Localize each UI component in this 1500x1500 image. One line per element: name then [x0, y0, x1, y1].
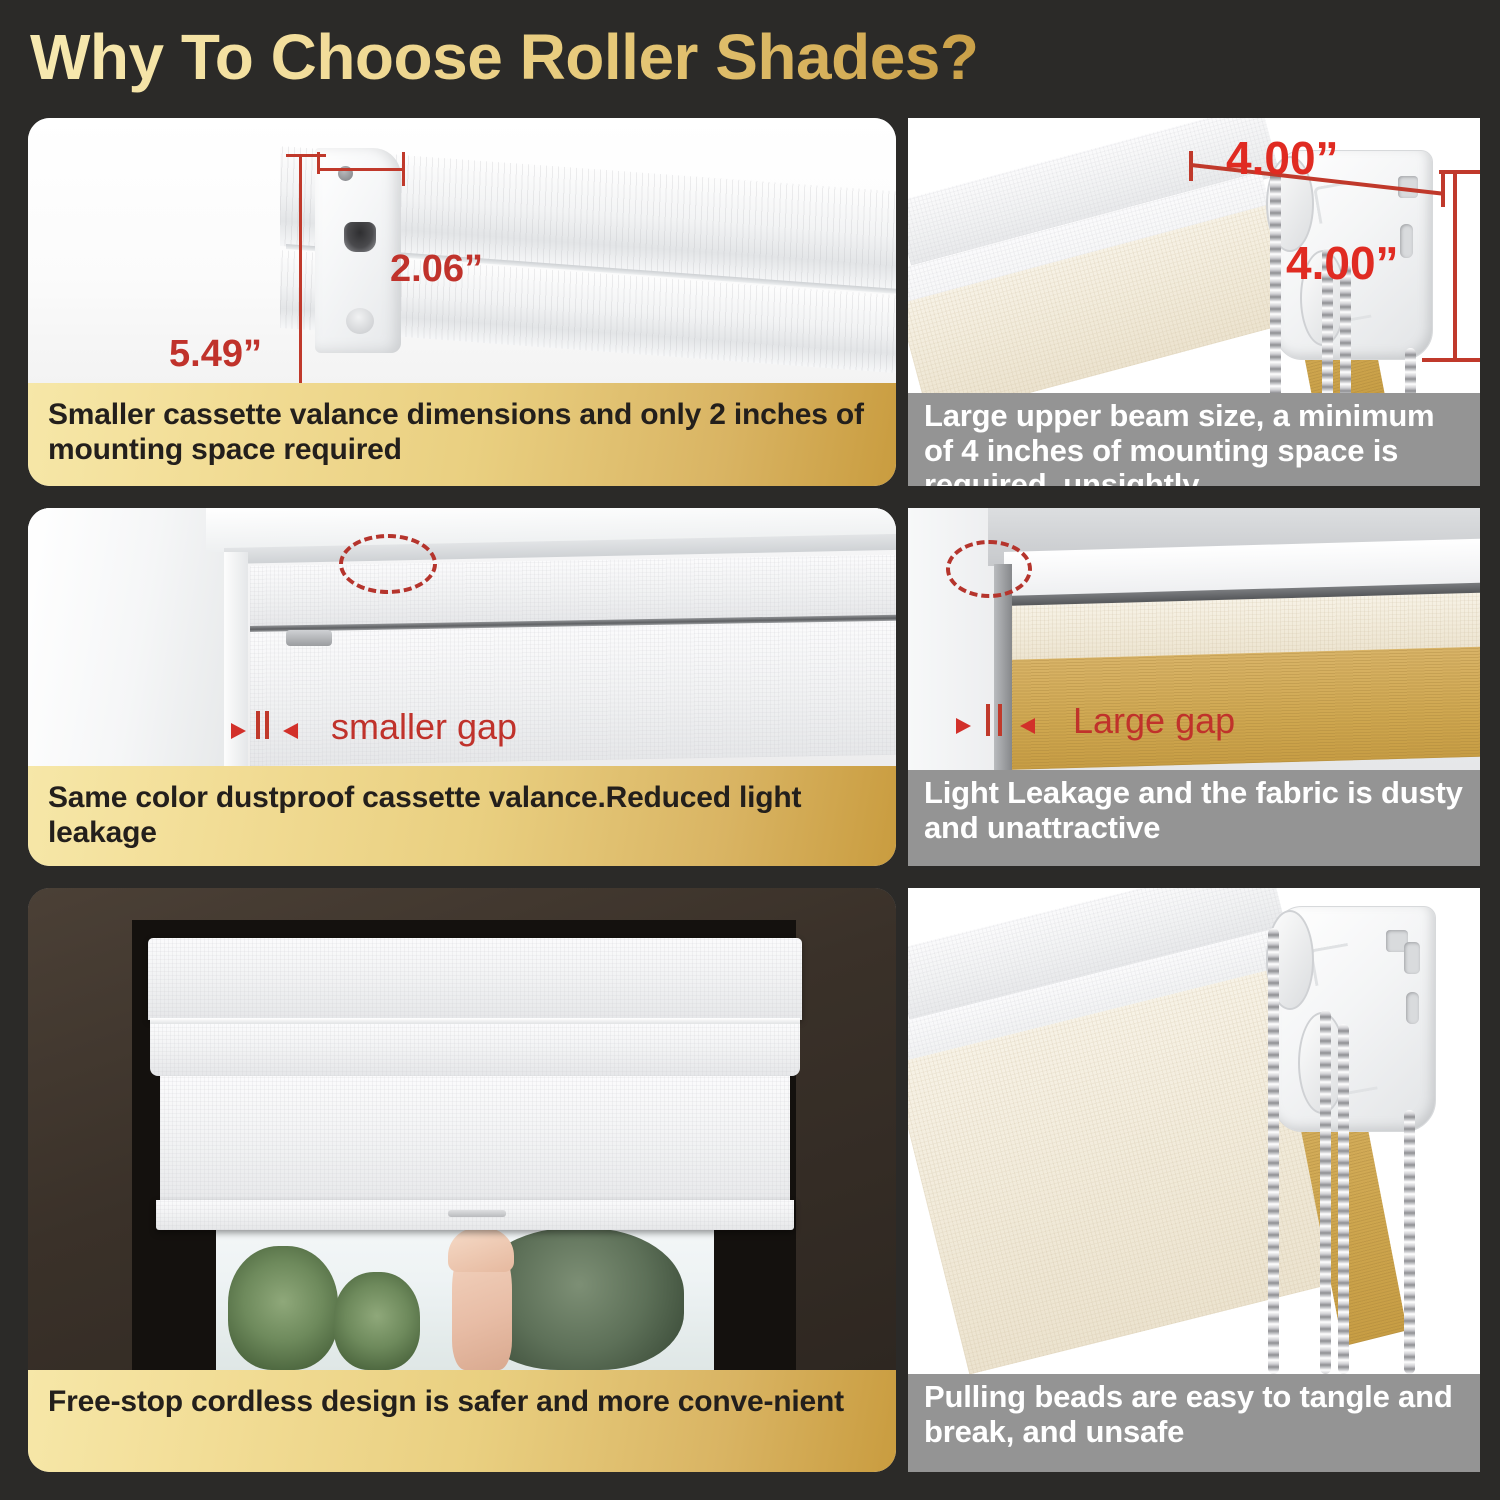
- window-casing-left: [28, 508, 228, 766]
- beam-width-tick-left: [1189, 151, 1193, 181]
- end-cap-screw-bottom: [346, 308, 374, 334]
- product-photo-window-scene: [28, 888, 896, 1370]
- height-dim-label: 5.49”: [169, 333, 262, 376]
- bracket-slot-lower: [1400, 224, 1413, 258]
- width-dim-label: 2.06”: [390, 248, 483, 291]
- height-dim-line: [299, 154, 302, 383]
- valance-head-lip: [150, 1024, 800, 1076]
- product-photo-smaller-gap: smaller gap: [28, 508, 896, 766]
- large-gap-arrow-right: [1020, 718, 1035, 734]
- beam-height-dim-label: 4.00”: [1286, 236, 1399, 290]
- bracket-slot-lower: [1406, 992, 1419, 1024]
- beam-height-dim-line: [1453, 170, 1457, 362]
- large-gap-label: Large gap: [1073, 700, 1235, 742]
- product-photo-bead-chain: [908, 888, 1480, 1374]
- roller-shade-panel: [160, 1076, 790, 1214]
- hand-fingers: [448, 1228, 514, 1272]
- gap-arrow-left: [231, 723, 246, 739]
- product-photo-large-gap: Large gap: [908, 508, 1480, 770]
- panel-light-leakage: Large gap Light Leakage and the fabric i…: [908, 508, 1480, 866]
- gap-marker-bar-a: [256, 711, 260, 739]
- beam-width-tick-right: [1441, 173, 1445, 207]
- smaller-gap-label: smaller gap: [331, 706, 517, 748]
- bracket-slot-side: [1404, 942, 1420, 974]
- panel-6-caption: Pulling beads are easy to tangle and bre…: [908, 1374, 1480, 1472]
- height-dim-tick-top: [286, 154, 326, 157]
- panel-smaller-cassette: 2.06” 5.49” Smaller cassette valance dim…: [28, 118, 896, 486]
- bracket-logo-upper-icon: [1313, 181, 1356, 224]
- roller-tube-end: [286, 630, 332, 646]
- gap-highlight-ellipse-inner: [339, 534, 437, 594]
- tree-mid: [334, 1272, 420, 1370]
- bead-chain-4[interactable]: [1405, 348, 1416, 393]
- panel-pulling-beads: Pulling beads are easy to tangle and bre…: [908, 888, 1480, 1472]
- bead-chain-3[interactable]: [1338, 1024, 1349, 1374]
- gap-marker-bar-b: [265, 711, 269, 739]
- beam-height-tick-top: [1439, 170, 1480, 174]
- large-gap-bar-a: [986, 704, 990, 736]
- cassette-valance-head: [148, 938, 802, 1020]
- bottom-rail-grip[interactable]: [448, 1210, 506, 1217]
- panel-3-caption: Same color dustproof cassette valance.Re…: [28, 766, 896, 866]
- bead-chain-1[interactable]: [1270, 170, 1281, 393]
- panel-5-caption: Free-stop cordless design is safer and m…: [28, 1370, 896, 1472]
- leak-highlight-ellipse: [946, 540, 1032, 598]
- bead-chain-2[interactable]: [1320, 1010, 1331, 1374]
- bead-chain-4[interactable]: [1404, 1110, 1415, 1374]
- tree-left: [228, 1246, 338, 1370]
- width-dim-line: [317, 168, 405, 171]
- panel-free-stop-cordless: Free-stop cordless design is safer and m…: [28, 888, 896, 1472]
- page-title: Why To Choose Roller Shades?: [30, 16, 1040, 98]
- panel-1-caption: Smaller cassette valance dimensions and …: [28, 383, 896, 486]
- gap-arrow-right: [283, 723, 298, 739]
- product-photo-large-beam: 4.00” 4.00”: [908, 118, 1480, 393]
- panel-4-caption: Light Leakage and the fabric is dusty an…: [908, 770, 1480, 866]
- beam-width-dim-label: 4.00”: [1226, 131, 1339, 185]
- product-photo-cassette-valance: 2.06” 5.49”: [28, 118, 896, 383]
- large-gap-arrow-left: [956, 718, 971, 734]
- width-dim-tick-right: [402, 152, 405, 186]
- bracket-logo-upper-icon: [1309, 943, 1354, 986]
- panel-large-upper-beam: 4.00” 4.00” Large upper beam size, a min…: [908, 118, 1480, 486]
- large-gap-bar-b: [998, 704, 1002, 736]
- panel-dustproof-cassette: smaller gap Same color dustproof cassett…: [28, 508, 896, 866]
- panel-2-caption: Large upper beam size, a minimum of 4 in…: [908, 393, 1480, 486]
- beam-height-tick-bottom: [1422, 358, 1480, 362]
- outdoor-view: [216, 1218, 714, 1370]
- end-cap-roller-socket: [344, 222, 376, 252]
- bead-chain-1[interactable]: [1268, 928, 1279, 1374]
